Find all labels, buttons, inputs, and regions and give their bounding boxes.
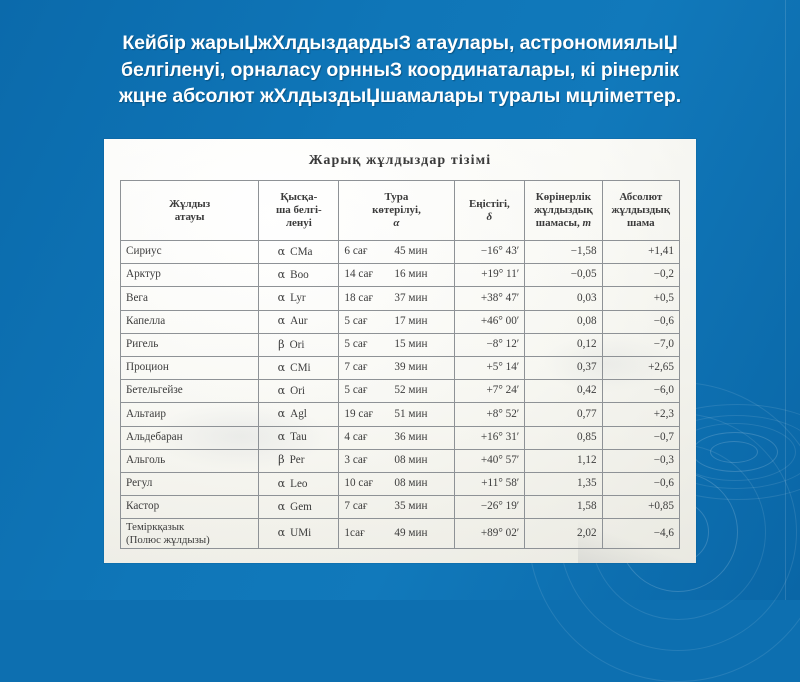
column-header-right-ascension: Тура көтерілуі, α [339,181,454,241]
table-row: АльдебаранαTau4 сағ36 мин+16° 31′0,85−0,… [121,426,680,449]
cell-declination: +40° 57′ [454,449,525,472]
cell-absolute-magnitude: −6,0 [602,380,679,403]
cell-apparent-magnitude: 0,85 [525,426,602,449]
title-line-1: Кейбір жарыЏжХлдыздардыЗ атаулары, астро… [28,30,772,57]
header-line: Еңістігі, [458,198,522,211]
cell-right-ascension: 3 сағ08 мин [339,449,454,472]
ra-hours: 4 сағ [344,431,394,445]
cell-apparent-magnitude: 0,08 [525,310,602,333]
header-line: Көрінерлік [528,191,598,204]
header-line: атауы [124,211,255,224]
greek-letter: β [278,453,284,466]
header-line: жұлдыздық [606,204,676,217]
cell-star-name: Арктур [121,264,259,287]
table-row: РигельβOri5 сағ15 мин−8° 12′0,12−7,0 [121,333,680,356]
star-name-primary: Капелла [126,315,165,327]
cell-apparent-magnitude: 1,58 [525,496,602,519]
header-symbol-alpha: α [342,217,450,230]
star-name-secondary: (Полюс жұлдызы) [126,534,253,546]
header-symbol-delta: δ [458,211,522,224]
cell-right-ascension: 7 сағ39 мин [339,356,454,379]
constellation-abbrev: Boo [290,269,320,283]
ra-hours: 10 сағ [344,477,394,491]
cell-designation: αTau [259,426,339,449]
cell-apparent-magnitude: −1,58 [525,241,602,264]
star-name-primary: Арктур [126,268,161,280]
greek-letter: α [278,291,286,304]
cell-declination: +8° 52′ [454,403,525,426]
constellation-abbrev: Gem [290,501,320,515]
ra-minutes: 16 мин [394,268,440,282]
cell-designation: αLeo [259,472,339,495]
greek-letter: α [278,268,286,281]
cell-right-ascension: 14 сағ16 мин [339,264,454,287]
column-header-declination: Еңістігі, δ [454,181,525,241]
cell-apparent-magnitude: 0,37 [525,356,602,379]
cell-designation: αLyr [259,287,339,310]
constellation-abbrev: Aur [290,315,320,329]
cell-declination: −8° 12′ [454,333,525,356]
cell-right-ascension: 19 сағ51 мин [339,403,454,426]
greek-letter: α [278,245,286,258]
table-row: АльтаирαAgl19 сағ51 мин+8° 52′0,77+2,3 [121,403,680,426]
cell-apparent-magnitude: 0,42 [525,380,602,403]
cell-declination: −16° 43′ [454,241,525,264]
cell-apparent-magnitude: 0,77 [525,403,602,426]
cell-star-name: Вега [121,287,259,310]
table-header-row: Жұлдыз атауы Қысқа- ша белгі- ленуі Тура… [121,181,680,241]
ra-minutes: 51 мин [394,408,440,422]
cell-star-name: Альголь [121,449,259,472]
table-row: КасторαGem7 сағ35 мин−26° 19′1,58+0,85 [121,496,680,519]
star-name-primary: Процион [126,361,169,373]
title-line-3: жцне абсолют жХлдыздыЏшамалары туралы мц… [28,83,772,110]
greek-letter: α [278,477,286,490]
ra-hours: 14 сағ [344,268,394,282]
slide-title: Кейбір жарыЏжХлдыздардыЗ атаулары, астро… [28,30,772,110]
greek-letter: α [278,526,286,539]
cell-apparent-magnitude: −0,05 [525,264,602,287]
cell-star-name: Альтаир [121,403,259,426]
cell-absolute-magnitude: +2,65 [602,356,679,379]
greek-letter: α [278,314,286,327]
cell-star-name: Ригель [121,333,259,356]
header-symbol-m: m [582,217,591,229]
cell-declination: −26° 19′ [454,496,525,519]
constellation-abbrev: Per [290,454,320,468]
cell-absolute-magnitude: −0,6 [602,310,679,333]
greek-letter: α [278,430,286,443]
cell-absolute-magnitude: −4,6 [602,519,679,549]
cell-absolute-magnitude: −0,7 [602,426,679,449]
star-data-table: Жұлдыз атауы Қысқа- ша белгі- ленуі Тура… [120,180,680,549]
cell-declination: +46° 00′ [454,310,525,333]
ra-minutes: 15 мин [394,338,440,352]
header-line: Жұлдыз [124,198,255,211]
cell-right-ascension: 1сағ49 мин [339,519,454,549]
cell-declination: +89° 02′ [454,519,525,549]
cell-star-name: Бетельгейзе [121,380,259,403]
cell-designation: αCMa [259,241,339,264]
ra-minutes: 52 мин [394,384,440,398]
ra-hours: 3 сағ [344,454,394,468]
star-name-primary: Альтаир [126,408,166,420]
table-row: БетельгейзеαOri5 сағ52 мин+7° 24′0,42−6,… [121,380,680,403]
cell-designation: αAgl [259,403,339,426]
table-row: Теміркқазык(Полюс жұлдызы)αUMi1сағ49 мин… [121,519,680,549]
star-name-primary: Сириус [126,245,162,257]
ra-hours: 5 сағ [344,338,394,352]
title-line-2: белгіленуі, орналасу орнныЗ координатала… [28,57,772,84]
cell-absolute-magnitude: −7,0 [602,333,679,356]
ra-hours: 6 сағ [344,245,394,259]
greek-letter: α [278,500,286,513]
cell-star-name: Теміркқазык(Полюс жұлдызы) [121,519,259,549]
cell-apparent-magnitude: 0,12 [525,333,602,356]
constellation-abbrev: UMi [290,527,320,541]
cell-declination: +5° 14′ [454,356,525,379]
cell-designation: αOri [259,380,339,403]
table-row: ПроционαCMi7 сағ39 мин+5° 14′0,37+2,65 [121,356,680,379]
cell-designation: αUMi [259,519,339,549]
cell-star-name: Кастор [121,496,259,519]
cell-absolute-magnitude: +0,85 [602,496,679,519]
star-name-primary: Ригель [126,338,158,350]
cell-designation: αCMi [259,356,339,379]
star-name-primary: Вега [126,292,148,304]
ra-minutes: 45 мин [394,245,440,259]
cell-star-name: Регул [121,472,259,495]
cell-absolute-magnitude: −0,3 [602,449,679,472]
ra-hours: 7 сағ [344,500,394,514]
constellation-abbrev: CMa [290,246,320,260]
column-header-apparent-magnitude: Көрінерлік жұлдыздық шамасы, m [525,181,602,241]
decorative-hairline [785,0,786,600]
ra-hours: 18 сағ [344,292,394,306]
cell-right-ascension: 7 сағ35 мин [339,496,454,519]
constellation-abbrev: Agl [290,408,320,422]
greek-letter: α [278,384,286,397]
header-line: Тура [342,191,450,204]
table-row: КапеллаαAur5 сағ17 мин+46° 00′0,08−0,6 [121,310,680,333]
greek-letter: β [278,338,284,351]
ra-minutes: 37 мин [394,292,440,306]
table-row: СириусαCMa6 сағ45 мин−16° 43′−1,58+1,41 [121,241,680,264]
greek-letter: α [278,361,286,374]
ra-minutes: 36 мин [394,431,440,445]
ra-minutes: 39 мин [394,361,440,375]
ra-minutes: 35 мин [394,500,440,514]
cell-apparent-magnitude: 1,35 [525,472,602,495]
star-name-primary: Теміркқазык [126,521,253,533]
ra-minutes: 08 мин [394,477,440,491]
header-line: жұлдыздық [528,204,598,217]
cell-star-name: Сириус [121,241,259,264]
ra-hours: 1сағ [344,527,394,541]
table-body: СириусαCMa6 сағ45 мин−16° 43′−1,58+1,41А… [121,241,680,549]
header-line: Абсолют [606,191,676,204]
cell-absolute-magnitude: −0,6 [602,472,679,495]
table-row: АрктурαBoo14 сағ16 мин+19° 11′−0,05−0,2 [121,264,680,287]
constellation-abbrev: Ori [290,339,320,353]
cell-right-ascension: 5 сағ52 мин [339,380,454,403]
cell-declination: +38° 47′ [454,287,525,310]
cell-right-ascension: 10 сағ08 мин [339,472,454,495]
star-name-primary: Альдебаран [126,431,183,443]
header-line: ленуі [262,217,335,230]
cell-apparent-magnitude: 2,02 [525,519,602,549]
ra-hours: 5 сағ [344,315,394,329]
ra-hours: 19 сағ [344,408,394,422]
table-row: АльгольβPer3 сағ08 мин+40° 57′1,12−0,3 [121,449,680,472]
constellation-abbrev: Lyr [290,292,320,306]
cell-designation: αBoo [259,264,339,287]
header-line: шама [606,217,676,230]
cell-designation: αGem [259,496,339,519]
cell-right-ascension: 5 сағ17 мин [339,310,454,333]
ra-minutes: 08 мин [394,454,440,468]
cell-star-name: Процион [121,356,259,379]
star-name-primary: Бетельгейзе [126,384,183,396]
header-line: Қысқа- [262,191,335,204]
cell-designation: βPer [259,449,339,472]
constellation-abbrev: CMi [290,362,320,376]
header-line-text: шамасы, [536,217,580,229]
cell-star-name: Альдебаран [121,426,259,449]
cell-absolute-magnitude: +2,3 [602,403,679,426]
constellation-abbrev: Tau [290,431,320,445]
ra-hours: 5 сағ [344,384,394,398]
cell-declination: +7° 24′ [454,380,525,403]
constellation-abbrev: Leo [290,478,320,492]
cell-absolute-magnitude: −0,2 [602,264,679,287]
greek-letter: α [278,407,286,420]
table-row: РегулαLeo10 сағ08 мин+11° 58′1,35−0,6 [121,472,680,495]
column-header-star-name: Жұлдыз атауы [121,181,259,241]
cell-apparent-magnitude: 0,03 [525,287,602,310]
ra-hours: 7 сағ [344,361,394,375]
cell-designation: βOri [259,333,339,356]
star-name-primary: Регул [126,477,152,489]
table-caption: Жарық жұлдыздар тізімі [104,139,696,180]
constellation-abbrev: Ori [290,385,320,399]
header-line: ша белгі- [262,204,335,217]
header-line: көтерілуі, [342,204,450,217]
cell-right-ascension: 4 сағ36 мин [339,426,454,449]
cell-declination: +19° 11′ [454,264,525,287]
cell-declination: +16° 31′ [454,426,525,449]
cell-right-ascension: 6 сағ45 мин [339,241,454,264]
cell-star-name: Капелла [121,310,259,333]
column-header-absolute-magnitude: Абсолют жұлдыздық шама [602,181,679,241]
cell-designation: αAur [259,310,339,333]
cell-absolute-magnitude: +1,41 [602,241,679,264]
column-header-designation: Қысқа- ша белгі- ленуі [259,181,339,241]
star-name-primary: Кастор [126,500,159,512]
star-name-primary: Альголь [126,454,165,466]
cell-absolute-magnitude: +0,5 [602,287,679,310]
cell-apparent-magnitude: 1,12 [525,449,602,472]
header-line: шамасы, m [528,217,598,230]
ra-minutes: 49 мин [394,527,440,541]
ra-minutes: 17 мин [394,315,440,329]
cell-declination: +11° 58′ [454,472,525,495]
cell-right-ascension: 5 сағ15 мин [339,333,454,356]
table-row: ВегаαLyr18 сағ37 мин+38° 47′0,03+0,5 [121,287,680,310]
star-table-figure: Жарық жұлдыздар тізімі Жұлдыз атауы Қысқ… [104,139,696,563]
cell-right-ascension: 18 сағ37 мин [339,287,454,310]
